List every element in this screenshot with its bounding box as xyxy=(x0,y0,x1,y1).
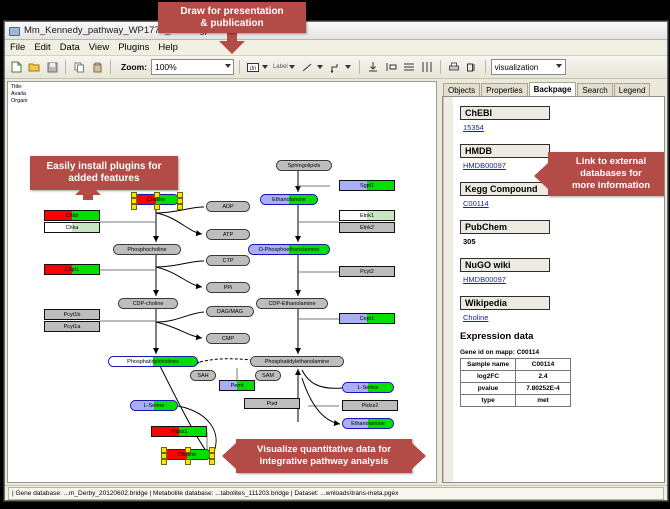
order-icon[interactable] xyxy=(464,59,480,75)
stack-icon[interactable] xyxy=(401,59,417,75)
selection-handle[interactable] xyxy=(131,204,137,210)
gene-node-chpt1[interactable]: Chpt1 xyxy=(44,264,100,275)
selection-handle[interactable] xyxy=(154,204,160,210)
toolbar: Zoom: 100% dn Label xyxy=(5,56,667,79)
callout-visualize: Visualize quantitative data for integrat… xyxy=(236,439,412,473)
datanode-icon[interactable]: dn xyxy=(245,59,261,75)
toolbar-separator-5 xyxy=(440,60,441,74)
app-icon xyxy=(8,25,20,36)
callout-visualize-arrow-left xyxy=(222,443,236,469)
metabolite-node-sphingolipids[interactable]: Sphingolipids xyxy=(276,160,332,171)
node-label: Pcyt1a xyxy=(64,324,81,330)
toolbar-separator-3 xyxy=(239,60,240,74)
gene-node-sgpl1[interactable]: Sgpl1 xyxy=(339,180,395,191)
gene-node-pisd[interactable]: Pisd xyxy=(244,398,300,409)
gene-node-cept1[interactable]: Cept1 xyxy=(339,313,395,324)
save-icon[interactable] xyxy=(44,59,60,75)
db-value-pubchem: 305 xyxy=(463,237,659,246)
gene-node-pcyt2[interactable]: Pcyt2 xyxy=(339,266,395,277)
expr-row-label: type xyxy=(461,395,516,407)
paste-icon[interactable] xyxy=(89,59,105,75)
selection-handle[interactable] xyxy=(185,459,191,465)
pathway-availability-label: Availa xyxy=(11,91,28,98)
metabolite-node-ctp[interactable]: CTP xyxy=(206,255,250,266)
gene-node-pcyt1a[interactable]: Pcyt1a xyxy=(44,321,100,332)
expr-row-label: Sample name xyxy=(461,359,516,371)
menu-item-view[interactable]: View xyxy=(89,42,109,53)
chevron-down-icon[interactable] xyxy=(556,64,562,68)
db-header-pubchem: PubChem xyxy=(460,220,550,234)
node-label: Choline xyxy=(147,197,166,203)
metabolite-node-ethanolamine[interactable]: Ethanolamine xyxy=(260,194,318,205)
chevron-down-icon[interactable] xyxy=(262,65,268,69)
menu-bar: File Edit Data View Plugins Help xyxy=(5,40,667,56)
chevron-down-icon[interactable] xyxy=(289,65,295,69)
gene-id-line: Gene id on mapp: C00114 xyxy=(460,349,659,356)
node-label: Cept1 xyxy=(360,316,375,322)
metabolite-node-lserine2[interactable]: L-Serine xyxy=(342,382,394,393)
menu-item-help[interactable]: Help xyxy=(158,42,178,53)
node-label: Chka xyxy=(66,225,79,231)
node-label: Etnk2 xyxy=(360,225,374,231)
callout-links: Link to external databases for more info… xyxy=(548,152,665,196)
callout-plugins-arrow xyxy=(75,182,101,195)
side-panel-tabs: Objects Properties Backpage Search Legen… xyxy=(439,81,665,96)
metabolite-node-sah[interactable]: SAH xyxy=(190,370,216,381)
menu-item-plugins[interactable]: Plugins xyxy=(118,42,149,53)
zoom-value: 100% xyxy=(155,62,177,72)
menu-item-edit[interactable]: Edit xyxy=(34,42,50,53)
open-icon[interactable] xyxy=(26,59,42,75)
node-label: Phosphocholine xyxy=(127,247,166,253)
callout-plugins-text: Easily install plugins for added feature… xyxy=(46,161,161,185)
gene-node-chka[interactable]: Chka xyxy=(44,222,100,233)
node-label: PPi xyxy=(224,285,233,291)
line-tool[interactable] xyxy=(300,59,326,75)
db-link-chebi[interactable]: 15354 xyxy=(463,123,659,132)
title-bar: Mm_Kennedy_pathway_WP1771_45176.gpml xyxy=(5,22,667,40)
pathway-canvas[interactable]: Title: Availa Organi xyxy=(7,81,437,483)
distribute-icon[interactable] xyxy=(419,59,435,75)
tab-search[interactable]: Search xyxy=(577,83,612,96)
toolbar-separator-6 xyxy=(485,60,486,74)
db-link-kegg-compound[interactable]: C00114 xyxy=(463,199,659,208)
connector-tool[interactable] xyxy=(328,59,354,75)
toolbar-separator-2 xyxy=(110,60,111,74)
metabolite-node-adp[interactable]: ADP xyxy=(206,201,250,212)
selection-handle[interactable] xyxy=(177,204,183,210)
callout-links-text: Link to external databases for more info… xyxy=(572,156,650,192)
label-tool-text: Label xyxy=(273,64,288,70)
expression-table: Sample nameC00114log2FC2.4pvalue7.80252E… xyxy=(460,358,571,407)
node-label: Choline xyxy=(178,452,197,458)
node-label: Ptdss2 xyxy=(362,403,379,409)
node-label: O-Phosphoethanolamine xyxy=(259,247,320,253)
chevron-down-icon[interactable] xyxy=(317,65,323,69)
screenshot-root: Mm_Kennedy_pathway_WP1771_45176.gpml Fil… xyxy=(0,0,670,509)
pathvisio-window: Mm_Kennedy_pathway_WP1771_45176.gpml Fil… xyxy=(4,21,668,501)
node-label: Pemt xyxy=(231,383,244,389)
node-label: CTP xyxy=(223,258,234,264)
db-header-wikipedia: Wikipedia xyxy=(460,296,550,310)
db-header-hmdb: HMDB xyxy=(460,144,550,158)
copy-icon[interactable] xyxy=(71,59,87,75)
node-label: Ethanolamine xyxy=(272,197,306,203)
status-bar-text: | Gene database: ...m_Derby_20120602.bri… xyxy=(8,487,664,500)
node-label: SAM xyxy=(262,373,274,379)
metabolite-node-sam[interactable]: SAM xyxy=(255,370,281,381)
label-tool[interactable]: Label xyxy=(273,64,298,70)
new-icon[interactable] xyxy=(8,59,24,75)
node-label: Phosphatidylcholines xyxy=(127,359,179,365)
expr-row-label: log2FC xyxy=(461,371,516,383)
align-left-icon[interactable] xyxy=(383,59,399,75)
table-row: pvalue7.80252E-4 xyxy=(461,383,571,395)
callout-visualize-text: Visualize quantitative data for integrat… xyxy=(257,444,391,468)
callout-draw: Draw for presentation & publication xyxy=(158,2,306,33)
metabolite-node-dagmag[interactable]: DAG/MAG xyxy=(206,306,254,317)
metabolite-node-cdpethanolamine[interactable]: CDP-Ethanolamine xyxy=(256,298,328,309)
selection-handle[interactable] xyxy=(209,459,215,465)
toolbar-separator xyxy=(65,60,66,74)
node-label: CDP-choline xyxy=(133,301,164,307)
node-label: Etnk1 xyxy=(360,213,374,219)
gene-node-ptdss2[interactable]: Ptdss2 xyxy=(342,400,398,411)
callout-plugins: Easily install plugins for added feature… xyxy=(30,156,178,190)
node-label: Pcyt2 xyxy=(360,269,374,275)
node-label: Sphingolipids xyxy=(288,163,321,169)
node-label: Ethanolamine xyxy=(351,421,385,427)
expression-data-title: Expression data xyxy=(460,331,659,342)
metabolite-node-ppi[interactable]: PPi xyxy=(206,282,250,293)
node-label: Pisd xyxy=(267,401,278,407)
pathway-organism-label: Organi xyxy=(11,98,28,105)
connector-icon[interactable] xyxy=(328,59,344,75)
expr-row-value: C00114 xyxy=(516,359,571,371)
node-label: CMP xyxy=(222,336,234,342)
metabolite-node-phosphatidylcholines[interactable]: Phosphatidylcholines xyxy=(108,356,198,367)
node-label: L-Serine xyxy=(358,385,379,391)
line-icon[interactable] xyxy=(300,59,316,75)
metabolite-node-cmp[interactable]: CMP xyxy=(206,333,250,344)
svg-text:dn: dn xyxy=(250,66,257,72)
node-label: Ptdss1 xyxy=(171,429,188,435)
table-row: typemet xyxy=(461,395,571,407)
db-link-nugo-wiki[interactable]: HMDB00097 xyxy=(463,275,659,284)
gene-node-pemt[interactable]: Pemt xyxy=(219,380,255,391)
metabolite-node-ethanolamine2[interactable]: Ethanolamine xyxy=(342,418,394,429)
chevron-down-icon[interactable] xyxy=(225,64,231,68)
zoom-combobox[interactable]: 100% xyxy=(151,59,234,75)
expr-row-value: 2.4 xyxy=(516,371,571,383)
tab-legend[interactable]: Legend xyxy=(614,83,651,96)
gene-node-etnk2[interactable]: Etnk2 xyxy=(339,222,395,233)
align-top-icon[interactable] xyxy=(365,59,381,75)
pathway-title-label: Title: xyxy=(11,84,28,91)
gene-node-pcyt1b[interactable]: Pcyt1b xyxy=(44,309,100,320)
database-entries: ChEBI15354HMDBHMDB00097Kegg CompoundC001… xyxy=(460,103,659,322)
expr-row-value: 7.80252E-4 xyxy=(516,383,571,395)
tab-objects[interactable]: Objects xyxy=(443,83,480,96)
metabolite-node-phosphatidylethanolamine[interactable]: Phosphatidylethanolamine xyxy=(250,356,344,367)
expr-row-value: met xyxy=(516,395,571,407)
window-body: Title: Availa Organi xyxy=(5,79,667,485)
metabolite-node-atp[interactable]: ATP xyxy=(206,229,250,240)
node-label: ADP xyxy=(222,204,233,210)
status-bar: | Gene database: ...m_Derby_20120602.bri… xyxy=(5,485,667,500)
node-label: Chpt1 xyxy=(65,267,80,273)
gene-node-ptdss1[interactable]: Ptdss1 xyxy=(151,426,207,437)
callout-links-arrow xyxy=(534,163,548,189)
tab-backpage[interactable]: Backpage xyxy=(529,82,577,96)
expr-row-label: pvalue xyxy=(461,383,516,395)
node-label: SAH xyxy=(197,373,208,379)
callout-visualize-arrow-right xyxy=(412,443,426,469)
metabolite-node-phosphocholine[interactable]: Phosphocholine xyxy=(113,244,181,255)
visualization-value: visualization xyxy=(495,63,539,72)
backpage-panel: ChEBI15354HMDBHMDB00097Kegg CompoundC001… xyxy=(442,96,665,483)
backpage-scrollbar[interactable] xyxy=(443,97,453,482)
toolbar-separator-4 xyxy=(359,60,360,74)
datanode-tool[interactable]: dn xyxy=(245,59,271,75)
zoom-label: Zoom: xyxy=(121,62,147,72)
pathway-info-header: Title: Availa Organi xyxy=(11,84,28,105)
node-label: DAG/MAG xyxy=(217,309,243,315)
chevron-down-icon[interactable] xyxy=(345,65,351,69)
db-header-nugo-wiki: NuGO wiki xyxy=(460,258,550,272)
node-label: Phosphatidylethanolamine xyxy=(265,359,330,365)
node-label: Pcyt1b xyxy=(64,312,81,318)
gene-node-chkb[interactable]: Chkb xyxy=(44,210,100,221)
menu-item-file[interactable]: File xyxy=(10,42,25,53)
db-link-wikipedia[interactable]: Choline xyxy=(463,313,659,322)
print-icon[interactable] xyxy=(446,59,462,75)
side-panel: Objects Properties Backpage Search Legen… xyxy=(439,81,665,483)
db-header-chebi: ChEBI xyxy=(460,106,550,120)
node-label: ATP xyxy=(223,232,233,238)
node-label: L-Serine xyxy=(144,403,165,409)
node-label: Chkb xyxy=(66,213,79,219)
selection-handle[interactable] xyxy=(161,459,167,465)
callout-draw-text: Draw for presentation & publication xyxy=(180,6,283,30)
metabolite-node-lserine1[interactable]: L-Serine xyxy=(130,400,178,411)
gene-node-etnk1[interactable]: Etnk1 xyxy=(339,210,395,221)
metabolite-node-cdpcholine[interactable]: CDP-choline xyxy=(118,298,178,309)
table-row: log2FC2.4 xyxy=(461,371,571,383)
visualization-combobox[interactable]: visualization xyxy=(491,59,566,75)
callout-draw-arrow xyxy=(219,41,245,54)
table-row: Sample nameC00114 xyxy=(461,359,571,371)
node-label: CDP-Ethanolamine xyxy=(268,301,315,307)
node-label: Sgpl1 xyxy=(360,183,374,189)
tab-properties[interactable]: Properties xyxy=(481,83,527,96)
metabolite-node-ophosphoethanolamine[interactable]: O-Phosphoethanolamine xyxy=(248,244,330,255)
menu-item-data[interactable]: Data xyxy=(60,42,80,53)
